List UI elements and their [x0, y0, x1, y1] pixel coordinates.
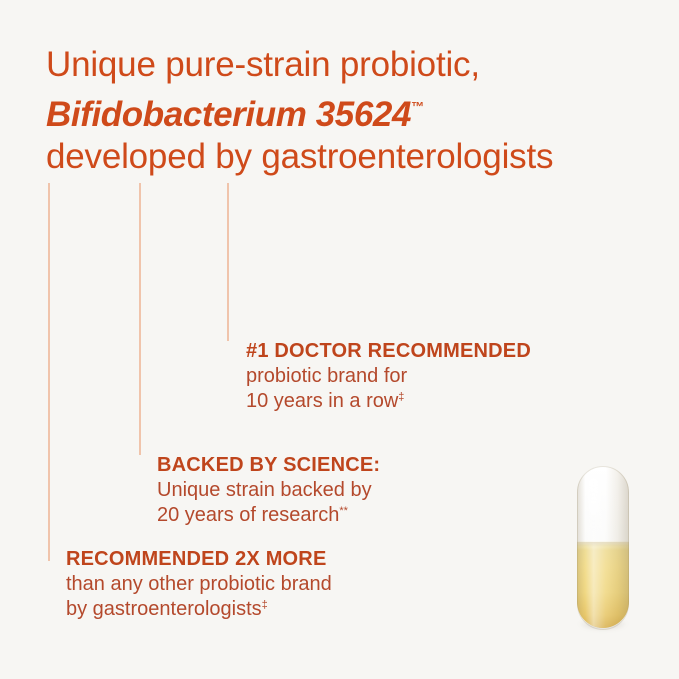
- claim-block-backed-by-science: BACKED BY SCIENCE: Unique strain backed …: [157, 453, 380, 528]
- connector-line-3: [227, 183, 229, 341]
- capsule-outline: [577, 466, 629, 630]
- claim-body-line-2: 20 years of research**: [157, 503, 380, 528]
- claim-footnote-marker: ‡: [262, 599, 268, 611]
- claim-footnote-marker: ‡: [398, 391, 404, 403]
- connector-line-2: [139, 183, 141, 455]
- claim-body-line-2: 10 years in a row‡: [246, 389, 531, 414]
- claim-heading: #1 DOCTOR RECOMMENDED: [246, 339, 531, 364]
- claim-block-recommended-2x-more: RECOMMENDED 2X MORE than any other probi…: [66, 547, 332, 622]
- connector-line-1: [48, 183, 50, 561]
- claim-body-text: by gastroenterologists: [66, 598, 262, 620]
- trademark-symbol: ™: [411, 99, 424, 114]
- claim-block-doctor-recommended: #1 DOCTOR RECOMMENDED probiotic brand fo…: [246, 339, 531, 414]
- headline-line-3: developed by gastroenterologists: [46, 136, 646, 178]
- page-title: Unique pure-strain probiotic, Bifidobact…: [46, 44, 646, 178]
- claim-body-line-1: Unique strain backed by: [157, 478, 380, 503]
- claim-body-line-2: by gastroenterologists‡: [66, 597, 332, 622]
- strain-name: Bifidobacterium 35624: [46, 95, 411, 134]
- claim-body-line-1: probiotic brand for: [246, 364, 531, 389]
- capsule-image: [577, 466, 629, 630]
- headline-line-2: Bifidobacterium 35624™: [46, 86, 646, 136]
- claim-body-line-1: than any other probiotic brand: [66, 572, 332, 597]
- infographic-canvas: Unique pure-strain probiotic, Bifidobact…: [0, 0, 679, 679]
- headline-line-1: Unique pure-strain probiotic,: [46, 44, 646, 86]
- claim-heading: RECOMMENDED 2X MORE: [66, 547, 332, 572]
- claim-body-text: 20 years of research: [157, 504, 339, 526]
- claim-body-text: 10 years in a row: [246, 390, 398, 412]
- claim-heading: BACKED BY SCIENCE:: [157, 453, 380, 478]
- claim-footnote-marker: **: [339, 505, 348, 517]
